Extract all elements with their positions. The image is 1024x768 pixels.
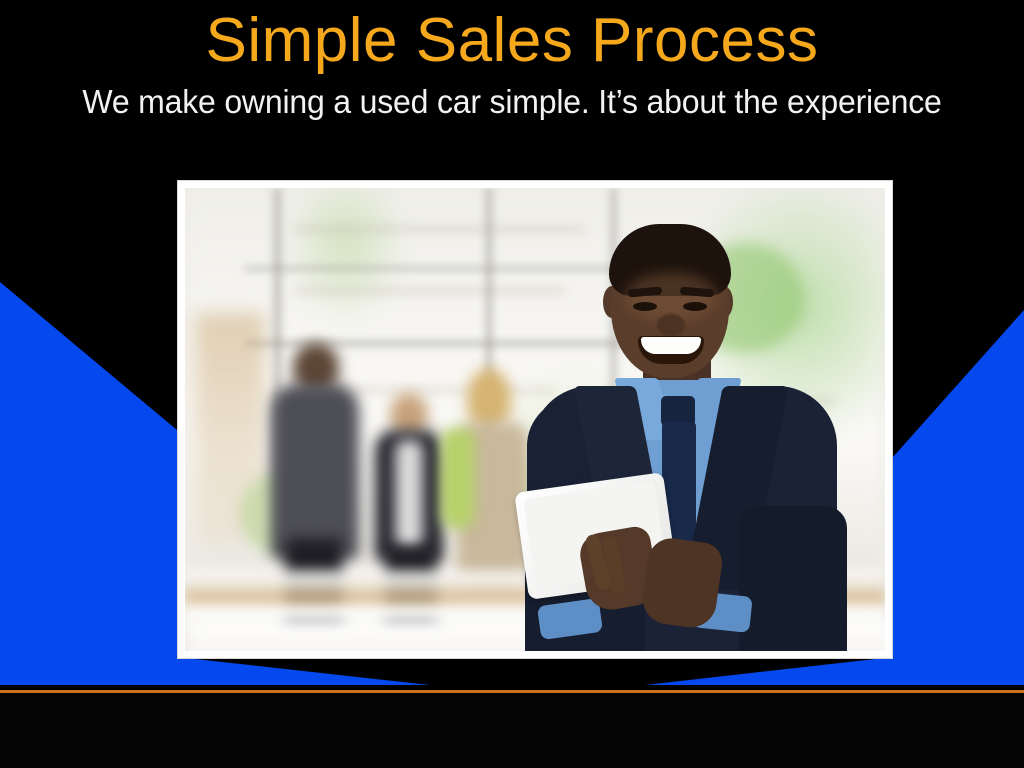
hand-right [639, 535, 724, 630]
background-person-man [271, 384, 359, 559]
page-title: Simple Sales Process [0, 6, 1024, 76]
eye-left [633, 302, 657, 311]
header: Simple Sales Process We make owning a us… [0, 0, 1024, 160]
ad-slide: Simple Sales Process We make owning a us… [0, 0, 1024, 768]
sleeve-right [739, 506, 847, 651]
background-person-woman-2 [467, 368, 511, 430]
eye-right [683, 302, 707, 311]
foreground-businessman [525, 210, 855, 651]
background-person-woman-1 [395, 440, 423, 548]
background-person-woman-2 [441, 428, 475, 528]
hero-photo [185, 188, 885, 651]
footer-bar: MIDLANDS Honda Sales (844) 805-1973 See … [0, 693, 1024, 768]
hero-photo-frame [178, 181, 892, 658]
teeth [641, 337, 701, 354]
nose [657, 314, 685, 336]
page-subtitle: We make owning a used car simple. It’s a… [15, 82, 1008, 122]
